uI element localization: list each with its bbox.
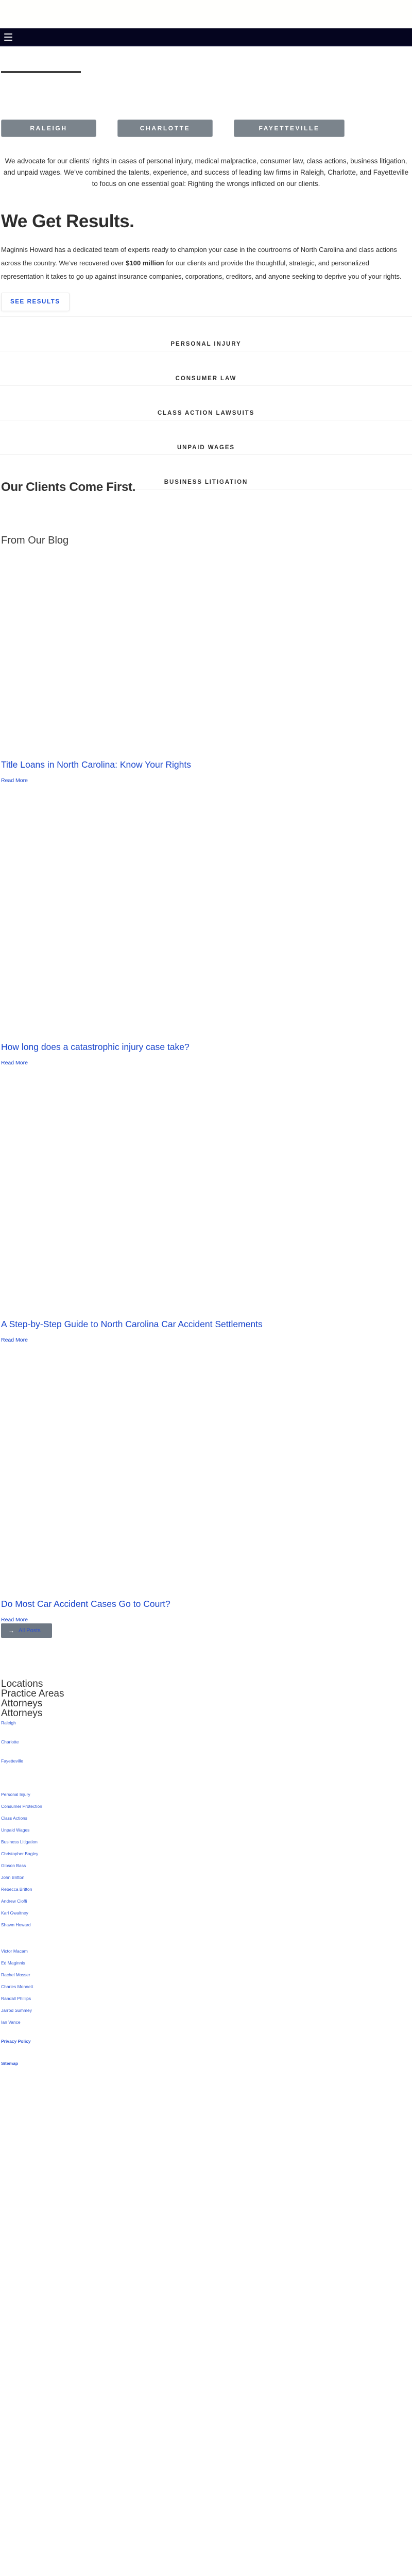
practice-area-label: PERSONAL INJURY <box>170 341 241 347</box>
blog-post-item: Do Most Car Accident Cases Go to Court? … <box>0 1343 412 1638</box>
city-button-fayetteville[interactable]: FAYETTEVILLE <box>234 120 345 137</box>
site-footer: Locations Practice Areas Attorneys Attor… <box>0 1679 412 2066</box>
practice-area-row-class-action-lawsuits[interactable]: CLASS ACTION LAWSUITS <box>0 386 412 420</box>
footer-link-privacy-policy[interactable]: Privacy Policy <box>1 2039 412 2044</box>
footer-locations-links: Raleigh Charlotte Fayetteville <box>1 1720 412 1764</box>
clients-come-first-heading: Our Clients Come First. <box>0 480 412 495</box>
see-results-button[interactable]: SEE RESULTS <box>1 293 70 311</box>
footer-link-rachel-mosser[interactable]: Rachel Mosser <box>1 1972 412 1977</box>
blog-read-more-link[interactable]: Read More <box>1 1617 412 1623</box>
intro-paragraph: We advocate for our clients’ rights in c… <box>2 156 410 190</box>
footer-link-fayetteville[interactable]: Fayetteville <box>1 1758 412 1764</box>
footer-attorney-links-column-2: Victor Macam Ed Maginnis Rachel Mosser C… <box>1 1948 412 2025</box>
blog-post-title[interactable]: Title Loans in North Carolina: Know Your… <box>1 759 412 771</box>
blog-read-more-link[interactable]: Read More <box>1 1337 412 1343</box>
footer-link-shawn-howard[interactable]: Shawn Howard <box>1 1922 412 1927</box>
practice-area-label: CONSUMER LAW <box>176 376 237 382</box>
practice-area-list: PERSONAL INJURY CONSUMER LAW CLASS ACTIO… <box>0 316 412 489</box>
top-white-strip <box>0 0 412 28</box>
footer-link-randall-phillips[interactable]: Randall Phillips <box>1 1996 412 2001</box>
blog-thumbnail <box>1 784 412 1041</box>
footer-link-victor-macam[interactable]: Victor Macam <box>1 1948 412 1954</box>
footer-link-john-britton[interactable]: John Britton <box>1 1875 412 1880</box>
practice-area-row-consumer-law[interactable]: CONSUMER LAW <box>0 351 412 386</box>
footer-heading-practice-areas: Practice Areas <box>1 1689 412 1699</box>
footer-link-business-litigation[interactable]: Business Litigation <box>1 1839 412 1844</box>
blog-post-title[interactable]: A Step-by-Step Guide to North Carolina C… <box>1 1318 412 1330</box>
practice-area-row-unpaid-wages[interactable]: UNPAID WAGES <box>0 420 412 455</box>
footer-practice-area-links: Personal Injury Consumer Protection Clas… <box>1 1792 412 1844</box>
blog-post-title[interactable]: Do Most Car Accident Cases Go to Court? <box>1 1598 412 1610</box>
footer-heading-locations: Locations <box>1 1679 412 1689</box>
footer-link-class-actions[interactable]: Class Actions <box>1 1816 412 1821</box>
footer-heading-attorneys-1: Attorneys <box>1 1699 412 1708</box>
results-amount: $100 million <box>126 259 164 267</box>
footer-link-consumer-protection[interactable]: Consumer Protection <box>1 1804 412 1809</box>
footer-heading-attorneys-2: Attorneys <box>1 1708 412 1718</box>
footer-link-christopher-bagley[interactable]: Christopher Bagley <box>1 1851 412 1856</box>
footer-link-gibson-bass[interactable]: Gibson Bass <box>1 1863 412 1868</box>
blog-post-item: A Step-by-Step Guide to North Carolina C… <box>0 1066 412 1343</box>
results-section: We Get Results. Maginnis Howard has a de… <box>0 190 412 311</box>
footer-link-jarrod-summey[interactable]: Jarrod Summey <box>1 2008 412 2013</box>
blog-post-item: Title Loans in North Carolina: Know Your… <box>0 553 412 784</box>
blog-thumbnail <box>1 553 412 759</box>
practice-area-row-personal-injury[interactable]: PERSONAL INJURY <box>0 317 412 351</box>
city-button-raleigh[interactable]: RALEIGH <box>1 120 96 137</box>
blog-post-item: How long does a catastrophic injury case… <box>0 784 412 1066</box>
results-heading: We Get Results. <box>1 211 411 232</box>
footer-link-charlotte[interactable]: Charlotte <box>1 1739 412 1744</box>
blog-post-list: Title Loans in North Carolina: Know Your… <box>0 553 412 1638</box>
footer-link-unpaid-wages[interactable]: Unpaid Wages <box>1 1827 412 1833</box>
footer-attorney-links-column-1: Christopher Bagley Gibson Bass John Brit… <box>1 1851 412 1927</box>
footer-link-raleigh[interactable]: Raleigh <box>1 1720 412 1725</box>
all-posts-label: All Posts <box>19 1628 41 1634</box>
site-navbar <box>0 28 412 46</box>
footer-link-sitemap[interactable]: Sitemap <box>1 2061 412 2066</box>
footer-legal-links: Privacy Policy Sitemap <box>1 2039 412 2066</box>
footer-link-personal-injury[interactable]: Personal Injury <box>1 1792 412 1797</box>
footer-link-rebecca-britton[interactable]: Rebecca Britton <box>1 1887 412 1892</box>
blog-post-title[interactable]: How long does a catastrophic injury case… <box>1 1041 412 1053</box>
blog-read-more-link[interactable]: Read More <box>1 1060 412 1066</box>
practice-area-label: CLASS ACTION LAWSUITS <box>158 410 254 416</box>
results-body: Maginnis Howard has a dedicated team of … <box>1 243 410 283</box>
practice-area-label: UNPAID WAGES <box>177 445 235 451</box>
hamburger-menu-icon[interactable] <box>4 33 12 41</box>
footer-link-charles-monnett[interactable]: Charles Monnett <box>1 1984 412 1989</box>
logo-area[interactable] <box>0 46 412 73</box>
blog-thumbnail <box>1 1066 412 1318</box>
all-posts-button[interactable]: → All Posts <box>1 1623 52 1638</box>
blog-read-more-link[interactable]: Read More <box>1 777 412 784</box>
footer-link-ian-vance[interactable]: Ian Vance <box>1 2020 412 2025</box>
footer-link-karl-gwaltney[interactable]: Karl Gwaltney <box>1 1910 412 1916</box>
blog-section-heading: From Our Blog <box>0 535 412 547</box>
blog-thumbnail <box>1 1343 412 1598</box>
logo-underline <box>1 71 81 73</box>
arrow-right-icon: → <box>8 1627 14 1634</box>
footer-link-andrew-cioffi[interactable]: Andrew Cioffi <box>1 1899 412 1904</box>
city-button-charlotte[interactable]: CHARLOTTE <box>117 120 213 137</box>
footer-link-ed-maginnis[interactable]: Ed Maginnis <box>1 1960 412 1965</box>
city-button-row: RALEIGH CHARLOTTE FAYETTEVILLE <box>0 73 412 137</box>
